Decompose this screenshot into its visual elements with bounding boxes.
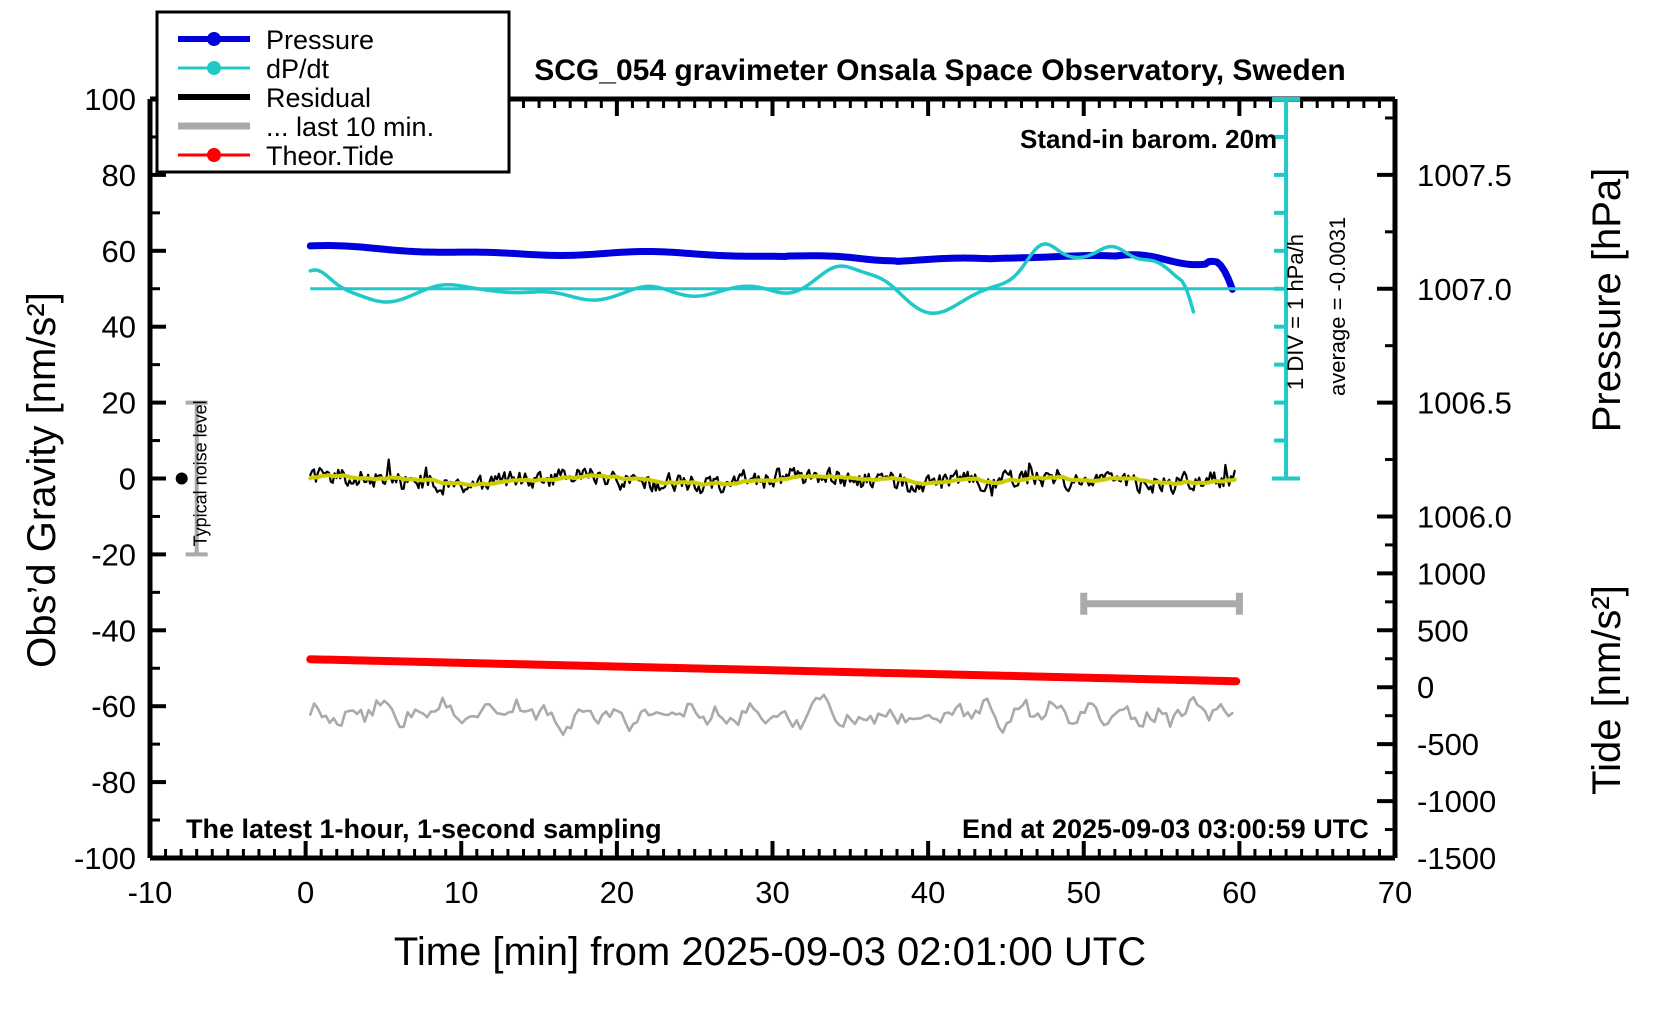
noise-level-label: Typical noise level <box>191 400 211 546</box>
legend-marker <box>207 148 221 162</box>
svg-text:0: 0 <box>119 462 136 497</box>
sampling-label: The latest 1-hour, 1-second sampling <box>186 814 662 844</box>
gravimeter-plot-page: 100806040200-20-40-60-80-100 -1001020304… <box>0 0 1660 1020</box>
svg-text:1000: 1000 <box>1417 556 1486 591</box>
end-time-label: End at 2025-09-03 03:00:59 UTC <box>962 814 1369 844</box>
legend-label: Pressure <box>266 25 374 55</box>
y-axis-tide-title: Tide [nm/s²] <box>1585 585 1629 795</box>
legend-label: dP/dt <box>266 54 330 84</box>
svg-text:40: 40 <box>102 310 136 345</box>
svg-text:40: 40 <box>911 875 945 910</box>
legend-marker <box>207 61 221 75</box>
svg-text:-40: -40 <box>91 613 136 648</box>
svg-text:-1500: -1500 <box>1417 841 1496 876</box>
svg-text:80: 80 <box>102 158 136 193</box>
svg-text:1006.0: 1006.0 <box>1417 499 1512 534</box>
svg-text:-80: -80 <box>91 765 136 800</box>
svg-text:60: 60 <box>102 234 136 269</box>
svg-text:100: 100 <box>84 82 136 117</box>
svg-text:10: 10 <box>444 875 478 910</box>
x-axis-title: Time [min] from 2025-09-03 02:01:00 UTC <box>394 930 1146 974</box>
svg-text:50: 50 <box>1067 875 1101 910</box>
svg-text:30: 30 <box>755 875 789 910</box>
svg-text:-20: -20 <box>91 537 136 572</box>
average-label: average = -0.0031 <box>1325 217 1350 396</box>
legend-label: Residual <box>266 83 371 113</box>
svg-text:-60: -60 <box>91 689 136 724</box>
svg-text:70: 70 <box>1378 875 1412 910</box>
svg-text:0: 0 <box>1417 670 1434 705</box>
svg-text:1006.5: 1006.5 <box>1417 386 1512 421</box>
svg-text:-1000: -1000 <box>1417 784 1496 819</box>
noise-center-dot <box>176 473 188 485</box>
svg-text:-100: -100 <box>74 841 136 876</box>
gravimeter-chart: 100806040200-20-40-60-80-100 -1001020304… <box>0 0 1660 1020</box>
div-scale-label: 1 DIV = 1 hPa/h <box>1283 234 1308 390</box>
svg-text:20: 20 <box>102 386 136 421</box>
svg-text:60: 60 <box>1222 875 1256 910</box>
y-axis-left-title: Obs’d Gravity [nm/s²] <box>20 292 64 668</box>
legend-label: Theor.Tide <box>266 141 394 171</box>
svg-text:0: 0 <box>297 875 314 910</box>
svg-text:-500: -500 <box>1417 727 1479 762</box>
legend[interactable]: PressuredP/dtResidual... last 10 min.The… <box>157 12 509 172</box>
svg-text:20: 20 <box>600 875 634 910</box>
y-axis-pressure-title: Pressure [hPa] <box>1585 168 1629 433</box>
svg-text:500: 500 <box>1417 613 1469 648</box>
chart-title: SCG_054 gravimeter Onsala Space Observat… <box>534 54 1346 87</box>
svg-text:1007.5: 1007.5 <box>1417 158 1512 193</box>
svg-text:-10: -10 <box>128 875 173 910</box>
legend-marker <box>207 32 221 46</box>
standin-barom-label: Stand-in barom. 20m <box>1020 124 1277 154</box>
svg-text:1007.0: 1007.0 <box>1417 272 1512 307</box>
legend-label: ... last 10 min. <box>266 112 434 142</box>
